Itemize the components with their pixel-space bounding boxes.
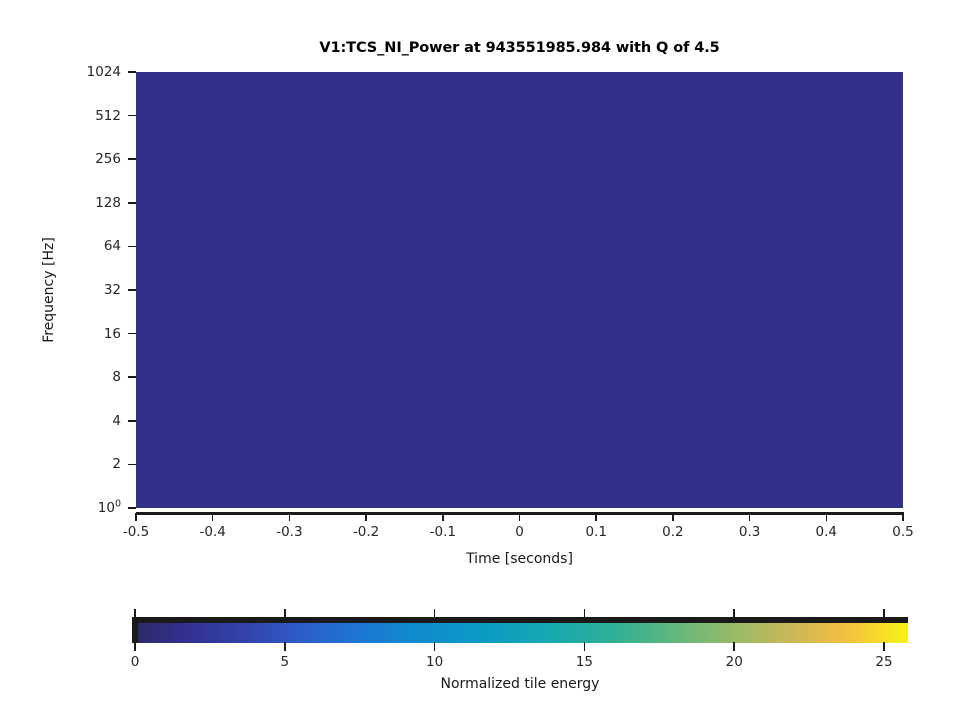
colorbar-label: Normalized tile energy [132, 676, 908, 692]
x-tick-label: 0.1 [585, 524, 606, 540]
colorbar-tick-label: 25 [875, 654, 892, 670]
colorbar-tick-label: 10 [426, 654, 443, 670]
x-tick-mark [749, 513, 751, 521]
y-tick-label: 16 [104, 326, 121, 342]
x-tick-label: 0.3 [739, 524, 760, 540]
y-tick-label: 4 [112, 413, 121, 429]
y-tick-mark [128, 420, 136, 422]
colorbar-gradient [138, 623, 908, 643]
x-tick-label: -0.1 [430, 524, 456, 540]
y-tick-mark [128, 202, 136, 204]
colorbar-tick-mark [584, 642, 586, 651]
y-tick-mark [128, 246, 136, 248]
y-tick-mark [128, 115, 136, 117]
colorbar-tick-mark [434, 642, 436, 651]
x-tick-label: -0.3 [276, 524, 302, 540]
colorbar-tick-mark [134, 642, 136, 651]
y-tick-label: 32 [104, 282, 121, 298]
x-tick-label: 0 [515, 524, 524, 540]
colorbar-tick-mark [284, 609, 286, 618]
colorbar-tick-mark [733, 609, 735, 618]
colorbar-tick-mark [883, 609, 885, 618]
colorbar-tick-label: 5 [281, 654, 290, 670]
y-tick-mark [128, 289, 136, 291]
colorbar-tick-label: 20 [726, 654, 743, 670]
y-tick-mark [128, 464, 136, 466]
x-tick-label: -0.5 [123, 524, 149, 540]
y-tick-label: 64 [104, 238, 121, 254]
x-tick-mark [519, 513, 521, 521]
y-tick-mark [128, 71, 136, 73]
colorbar-tick-mark [134, 609, 136, 618]
page-title: V1:TCS_NI_Power at 943551985.984 with Q … [136, 40, 903, 56]
y-tick-label: 100 [98, 500, 121, 516]
colorbar-tick-mark [584, 609, 586, 618]
x-tick-mark [672, 513, 674, 521]
x-axis-label: Time [seconds] [136, 551, 903, 567]
colorbar-tick-label: 0 [131, 654, 140, 670]
x-tick-label: 0.2 [662, 524, 683, 540]
y-tick-label: 128 [95, 195, 121, 211]
x-tick-mark [826, 513, 828, 521]
y-tick-mark [128, 376, 136, 378]
colorbar-tick-label: 15 [576, 654, 593, 670]
colorbar-tick-mark [284, 642, 286, 651]
x-tick-mark [289, 513, 291, 521]
y-tick-label: 256 [95, 151, 121, 167]
x-tick-mark [365, 513, 367, 521]
x-tick-mark [902, 513, 904, 521]
y-tick-label: 512 [95, 108, 121, 124]
colorbar-tick-mark [733, 642, 735, 651]
y-tick-mark [128, 158, 136, 160]
x-tick-label: -0.2 [353, 524, 379, 540]
colorbar-tick-mark [434, 609, 436, 618]
x-tick-label: 0.4 [816, 524, 837, 540]
y-axis-label: Frequency [Hz] [41, 72, 59, 508]
y-tick-label: 2 [112, 456, 121, 472]
spectrogram-axes[interactable] [136, 72, 903, 508]
x-tick-mark [595, 513, 597, 521]
x-tick-mark [135, 513, 137, 521]
colorbar-frame [132, 617, 908, 643]
x-tick-label: 0.5 [892, 524, 913, 540]
figure-canvas: V1:TCS_NI_Power at 943551985.984 with Q … [0, 0, 960, 720]
spectrogram-image [136, 72, 903, 508]
y-tick-mark [128, 333, 136, 335]
y-tick-label: 8 [112, 369, 121, 385]
y-tick-label: 1024 [87, 64, 121, 80]
x-tick-mark [442, 513, 444, 521]
x-tick-label: -0.4 [200, 524, 226, 540]
colorbar[interactable] [132, 617, 908, 643]
x-tick-mark [212, 513, 214, 521]
colorbar-tick-mark [883, 642, 885, 651]
y-tick-mark [128, 507, 136, 509]
